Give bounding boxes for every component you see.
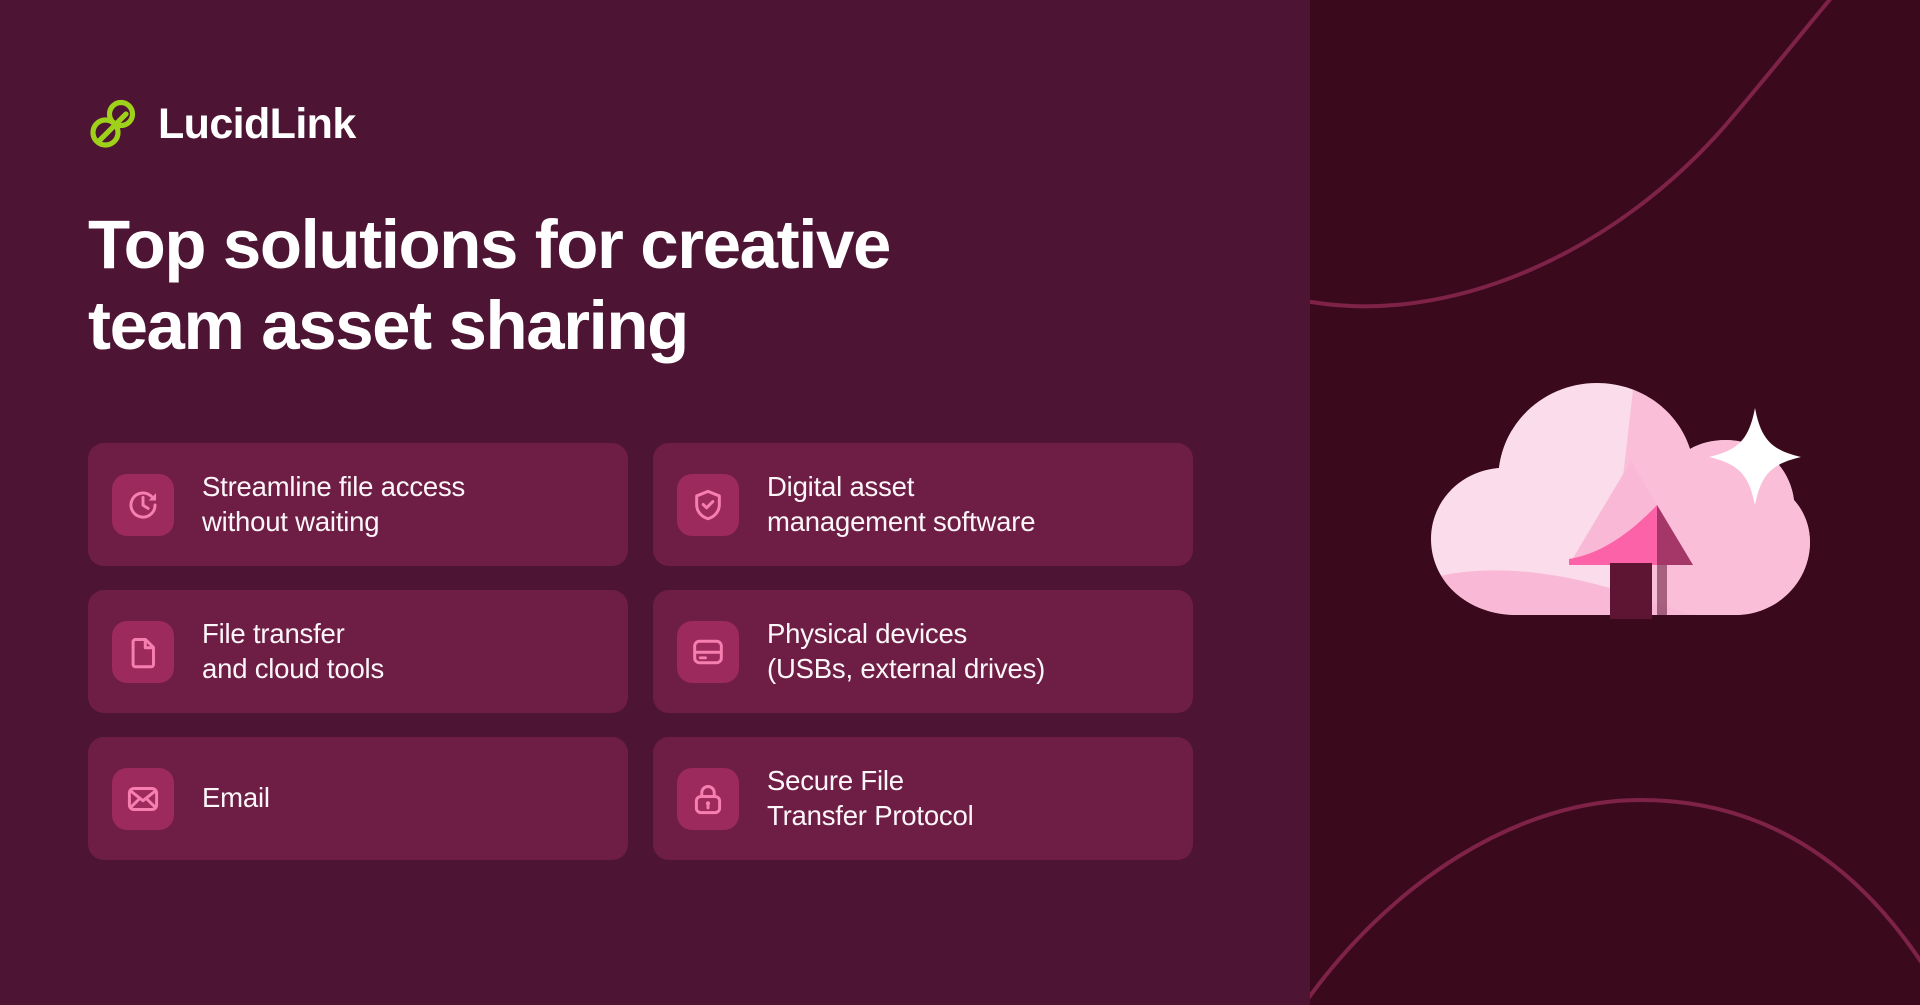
cloud-upload-sparkle-illustration — [1405, 353, 1825, 653]
page-title: Top solutions for creative team asset sh… — [88, 205, 1148, 366]
headline-line-2: team asset sharing — [88, 286, 1148, 367]
headline-line-1: Top solutions for creative — [88, 205, 1148, 286]
brand-logo[interactable]: LucidLink — [88, 98, 356, 150]
lucidlink-infinity-cloud-icon — [88, 98, 144, 150]
brand-wordmark: LucidLink — [158, 103, 356, 146]
card-label-line-2: (USBs, external drives) — [767, 652, 1045, 686]
card-label-line-2: Transfer Protocol — [767, 799, 974, 833]
card-physical-devices[interactable]: Physical devices (USBs, external drives) — [653, 590, 1193, 713]
card-streamline-file-access[interactable]: Streamline file access without waiting — [88, 443, 628, 566]
card-label: Streamline file access without waiting — [202, 470, 465, 538]
card-label-line-1: Email — [202, 781, 270, 815]
card-secure-file-transfer-protocol[interactable]: Secure File Transfer Protocol — [653, 737, 1193, 860]
envelope-icon — [112, 768, 174, 830]
clock-refresh-icon — [112, 474, 174, 536]
shield-check-icon — [677, 474, 739, 536]
card-file-transfer-cloud-tools[interactable]: File transfer and cloud tools — [88, 590, 628, 713]
card-label-line-1: File transfer — [202, 617, 384, 651]
promo-graphic: LucidLink Top solutions for creative tea… — [0, 0, 1920, 1005]
hard-drive-icon — [677, 621, 739, 683]
card-label-line-1: Physical devices — [767, 617, 1045, 651]
right-illustration-panel — [1310, 0, 1920, 1005]
left-content-panel: LucidLink Top solutions for creative tea… — [0, 0, 1310, 1005]
card-digital-asset-management[interactable]: Digital asset management software — [653, 443, 1193, 566]
card-label: Email — [202, 781, 270, 815]
card-label: Secure File Transfer Protocol — [767, 764, 974, 832]
card-label-line-1: Digital asset — [767, 470, 1035, 504]
card-email[interactable]: Email — [88, 737, 628, 860]
card-label: Physical devices (USBs, external drives) — [767, 617, 1045, 685]
card-label-line-1: Secure File — [767, 764, 974, 798]
card-label: File transfer and cloud tools — [202, 617, 384, 685]
solutions-card-grid: Streamline file access without waiting D… — [88, 443, 1193, 860]
card-label-line-2: management software — [767, 505, 1035, 539]
lock-icon — [677, 768, 739, 830]
card-label: Digital asset management software — [767, 470, 1035, 538]
card-label-line-2: and cloud tools — [202, 652, 384, 686]
file-document-icon — [112, 621, 174, 683]
card-label-line-2: without waiting — [202, 505, 465, 539]
card-label-line-1: Streamline file access — [202, 470, 465, 504]
